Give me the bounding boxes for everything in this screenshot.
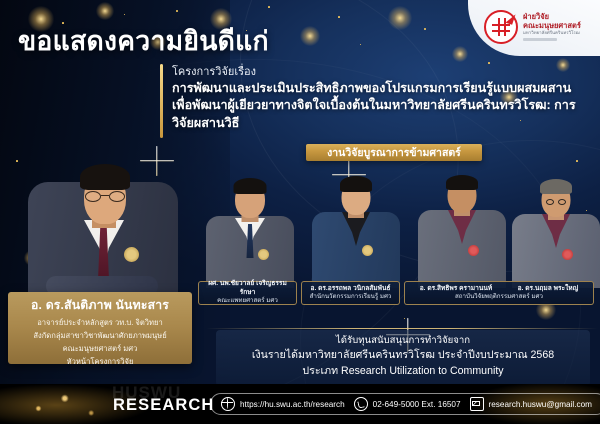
team-name: อ. ดร.อรรถพล วนิกลสัมพันธ์ <box>304 285 397 293</box>
team-photo-4 <box>508 168 600 288</box>
team-name: อ. ดร.นฤมล พระใหญ่ <box>518 285 579 293</box>
team-photo-1 <box>202 170 298 288</box>
team-photo-3 <box>414 164 510 288</box>
team-photo-2 <box>308 166 404 288</box>
team-photo-strip <box>196 160 600 288</box>
project-kicker: โครงการวิจัยเรื่อง <box>172 62 256 80</box>
team-nameplate-3-4: อ. ดร.สิทธิพร ครามานนท์ อ. ดร.นฤมล พระให… <box>404 281 594 305</box>
footer-email[interactable]: research.huswu@gmail.com <box>489 400 592 409</box>
lead-role-3: คณะมนุษยศาสตร์ มศว <box>8 343 192 354</box>
team-name: อ. ดร.สิทธิพร ครามานนท์ <box>420 285 492 293</box>
glasses-icon <box>85 191 125 202</box>
project-title: การพัฒนาและประเมินประสิทธิภาพของโปรแกรมก… <box>172 80 584 132</box>
lead-role-1: อาจารย์ประจำหลักสูตร วท.บ. จิตวิทยา <box>8 317 192 328</box>
team-affiliation: คณะแพทยศาสตร์ มศว <box>201 297 294 305</box>
lead-role-2: สังกัดกลุ่มสาขาวิชาพัฒนาศักยภาพมนุษย์ <box>8 330 192 341</box>
footer-website[interactable]: https://hu.swu.ac.th/research <box>240 400 345 409</box>
lead-role-4: หัวหน้าโครงการวิจัย <box>8 356 192 367</box>
funding-line-3: ประเภท Research Utilization to Community <box>216 364 590 380</box>
status-badge: งานวิจัยบูรณาการข้ามศาสตร์ <box>306 144 482 161</box>
funding-panel: ได้รับทุนสนับสนุนการทำวิจัยจาก เงินรายได… <box>216 330 590 386</box>
funding-line-1: ได้รับทุนสนับสนุนการทำวิจัยจาก <box>216 334 590 348</box>
team-affiliation: สำนักนวัตกรรมการเรียนรู้ มศว <box>304 293 397 301</box>
team-name: ผศ. นพ.ชัยวาลย์ เจริญธรรมรักษา <box>201 280 294 296</box>
logo-line-2: คณะมนุษยศาสตร์ <box>523 22 581 30</box>
swu-pen-grid-icon <box>484 10 518 44</box>
page-title: ขอแสดงความยินดีแก่ <box>18 20 269 62</box>
congratulations-poster: ฝ่ายวิจัย คณะมนุษยศาสตร์ มหาวิทยาลัยศรีน… <box>0 0 600 424</box>
mail-icon <box>470 397 484 411</box>
phone-icon <box>354 397 368 411</box>
lead-researcher-nameplate: อ. ดร.สันติภาพ นันทะสาร อาจารย์ประจำหลัก… <box>8 292 192 364</box>
funding-divider <box>206 328 598 329</box>
logo-underline <box>523 38 557 41</box>
team-affiliation: สถาบันวิจัยพฤติกรรมศาสตร์ มศว <box>407 293 591 301</box>
logo-line-3: มหาวิทยาลัยศรีนครินทรวิโรฒ <box>523 31 581 36</box>
footer-contact-pill: https://hu.swu.ac.th/research 02-649-500… <box>210 393 600 415</box>
funding-line-2: เงินรายได้มหาวิทยาลัยศรีนครินทรวิโรฒ ประ… <box>216 348 590 364</box>
globe-icon <box>221 397 235 411</box>
glasses-icon <box>546 199 566 206</box>
lead-badge-icon <box>124 247 139 262</box>
footer-brand: RESEARCH <box>113 396 214 415</box>
team-nameplate-1: ผศ. นพ.ชัยวาลย์ เจริญธรรมรักษา คณะแพทยศา… <box>198 281 297 305</box>
footer-bar: HUSWU RESEARCH https://hu.swu.ac.th/rese… <box>0 384 600 424</box>
footer-phone: 02-649-5000 Ext. 16507 <box>373 400 461 409</box>
lead-researcher-name: อ. ดร.สันติภาพ นันทะสาร <box>8 296 192 315</box>
team-nameplate-2: อ. ดร.อรรถพล วนิกลสัมพันธ์ สำนักนวัตกรรม… <box>301 281 400 305</box>
